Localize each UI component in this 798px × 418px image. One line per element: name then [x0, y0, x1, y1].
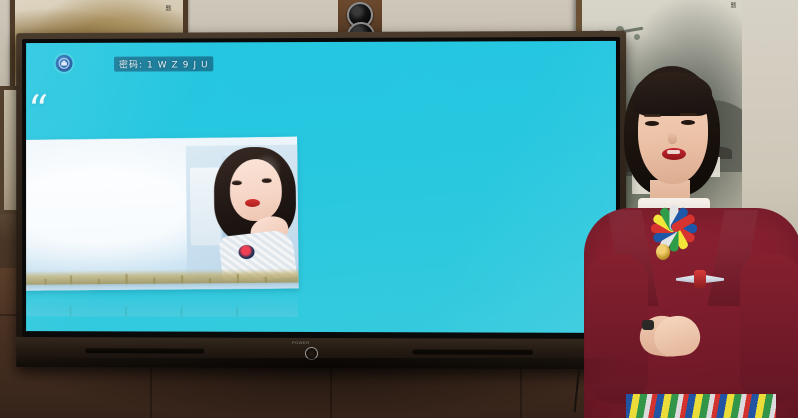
painting-calligraphy-right: 题 [728, 2, 736, 9]
display-screen[interactable]: 密码: 1 W Z 9 J U “ ” 张岚 [26, 41, 616, 333]
wristwatch [642, 320, 654, 330]
app-circle-icon[interactable] [56, 55, 73, 72]
slide-photo[interactable] [26, 137, 299, 291]
floor-shadow [10, 358, 630, 418]
pinwheel-scarf-brooch [650, 208, 702, 250]
presenter-arm-right [740, 254, 798, 404]
striped-skirt [626, 394, 776, 418]
quote-open-mark: “ [28, 91, 48, 131]
interactive-display[interactable]: 密码: 1 W Z 9 J U “ ” 张岚 [16, 31, 626, 369]
poster-woman [186, 145, 299, 282]
presenter-hands [640, 316, 716, 358]
code-chip-label: 密码: 1 W Z 9 J U [114, 56, 214, 71]
poster-brooch [238, 245, 254, 259]
scarf-knot [656, 244, 670, 260]
presenter-fringe [634, 72, 712, 116]
room-scene: 题 题 [0, 0, 798, 418]
power-button-label: POWER [292, 340, 310, 345]
photo-reflection [26, 290, 298, 317]
wing-badge [676, 270, 724, 288]
painting-calligraphy: 题 [163, 5, 171, 12]
